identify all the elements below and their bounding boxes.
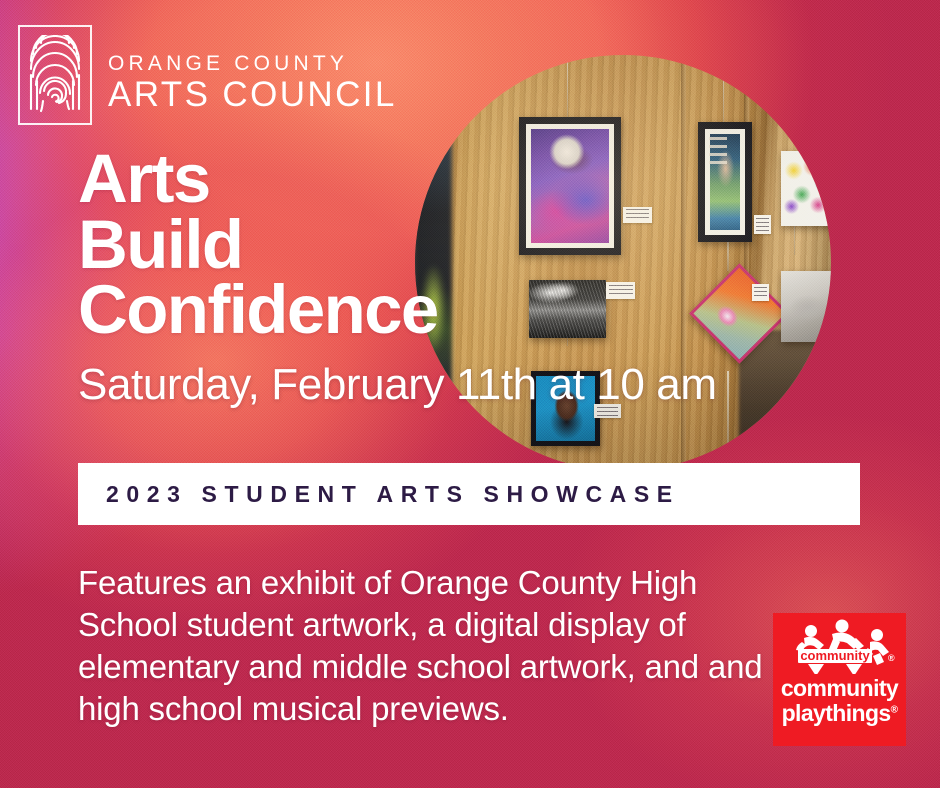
community-playthings-logo: community ® community playthings® bbox=[773, 613, 906, 746]
showcase-banner-text: 2023 STUDENT ARTS SHOWCASE bbox=[78, 481, 680, 508]
showcase-banner: 2023 STUDENT ARTS SHOWCASE bbox=[78, 463, 860, 525]
sponsor-word-community: community bbox=[781, 677, 898, 700]
event-datetime: Saturday, February 11th at 10 am bbox=[78, 360, 717, 410]
sponsor-playthings-text: playthings bbox=[782, 700, 891, 726]
bench-label: community bbox=[800, 648, 870, 663]
registered-mark-icon: ® bbox=[891, 704, 898, 715]
logo-wordmark: ORANGE COUNTY ARTS COUNCIL bbox=[108, 35, 397, 114]
headline: Arts Build Confidence bbox=[78, 146, 438, 343]
oc-arts-council-logo: ORANGE COUNTY ARTS COUNCIL bbox=[18, 25, 397, 125]
emblem-registered-mark: ® bbox=[888, 653, 895, 663]
logo-line-two: ARTS COUNCIL bbox=[108, 75, 397, 114]
fingerprint-icon bbox=[18, 25, 92, 125]
poster-canvas: ORANGE COUNTY ARTS COUNCIL Arts Build Co… bbox=[0, 0, 940, 788]
sponsor-word-playthings: playthings® bbox=[782, 702, 898, 725]
event-description: Features an exhibit of Orange County Hig… bbox=[78, 562, 768, 730]
headline-line-two: Build bbox=[78, 212, 438, 278]
headline-line-three: Confidence bbox=[78, 277, 438, 343]
logo-line-one: ORANGE COUNTY bbox=[108, 53, 397, 75]
community-playthings-figures-icon: community ® bbox=[784, 618, 896, 674]
headline-line-one: Arts bbox=[78, 146, 438, 212]
